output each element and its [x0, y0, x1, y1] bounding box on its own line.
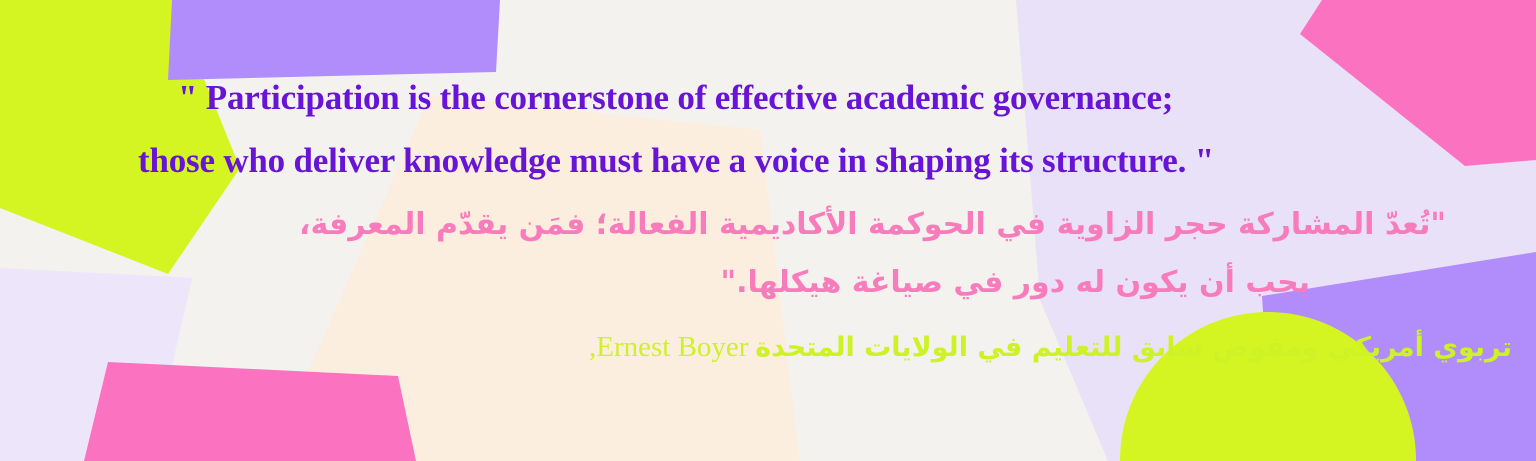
attribution-line: تربوي أمريكي ومفوض سابق للتعليم في الولا…	[589, 333, 1512, 362]
attribution-english-name: Ernest Boyer,	[589, 331, 748, 363]
quote-banner: " Participation is the cornerstone of ef…	[0, 0, 1536, 461]
quote-text-layer: " Participation is the cornerstone of ef…	[0, 0, 1536, 461]
arabic-quote-line-2: يجب أن يكون له دور في صياغة هيكلها."	[720, 268, 1310, 298]
english-quote-line-1: " Participation is the cornerstone of ef…	[178, 80, 1173, 115]
arabic-quote-line-1: "تُعدّ المشاركة حجر الزاوية في الحوكمة ا…	[299, 210, 1446, 240]
english-quote-line-2: those who deliver knowledge must have a …	[138, 143, 1214, 178]
attribution-arabic-role: تربوي أمريكي ومفوض سابق للتعليم في الولا…	[755, 332, 1512, 363]
